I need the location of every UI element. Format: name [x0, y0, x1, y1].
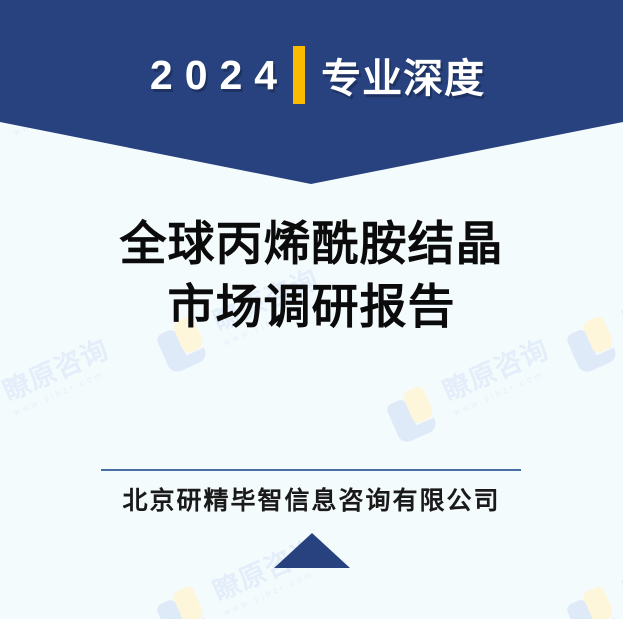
watermark-brand-label: 瞭原咨询 — [0, 336, 113, 406]
watermark-text: 瞭原咨询www.yjbzr.com — [439, 336, 558, 418]
watermark-logo-icon — [0, 378, 11, 449]
watermark-text: 瞭原咨询www.yjbzr.com — [0, 336, 118, 418]
kicker-label: 专业深度 — [321, 46, 485, 104]
watermark-tile: 瞭原咨询www.yjbzr.com — [380, 329, 561, 449]
watermark-logo-icon — [560, 578, 623, 619]
watermark-url-label: www.yjbzr.com — [12, 364, 118, 418]
watermark-url-label: www.yjbzr.com — [452, 364, 558, 418]
watermark-brand-label: 瞭原咨询 — [439, 336, 552, 406]
watermark-logo-icon — [150, 578, 221, 619]
header-content: 2024 专业深度 — [0, 0, 623, 150]
page-title-line-1: 全球丙烯酰胺结晶 — [0, 213, 623, 276]
report-cover: 瞭原咨询www.yjbzr.com瞭原咨询www.yjbzr.com瞭原咨询ww… — [0, 0, 623, 619]
watermark-logo-icon — [380, 378, 451, 449]
publisher-name: 北京研精毕智信息咨询有限公司 — [0, 481, 623, 517]
watermark-url-label: www.yjbzr.com — [222, 564, 328, 618]
divider-rule — [101, 469, 521, 471]
watermark-brand-label: 瞭原咨询 — [619, 536, 623, 606]
watermark-text: 瞭原咨询www.yjbzr.com — [619, 536, 623, 618]
year-label: 2024 — [138, 52, 289, 99]
page-title-line-2: 市场调研报告 — [0, 276, 623, 339]
watermark-tile: 瞭原咨询www.yjbzr.com — [560, 529, 623, 619]
page-title: 全球丙烯酰胺结晶 市场调研报告 — [0, 213, 623, 338]
watermark-tile: 瞭原咨询www.yjbzr.com — [0, 329, 121, 449]
header-banner: 2024 专业深度 — [0, 0, 623, 190]
separator-bar-icon — [293, 46, 305, 104]
up-arrow-icon — [274, 533, 350, 568]
